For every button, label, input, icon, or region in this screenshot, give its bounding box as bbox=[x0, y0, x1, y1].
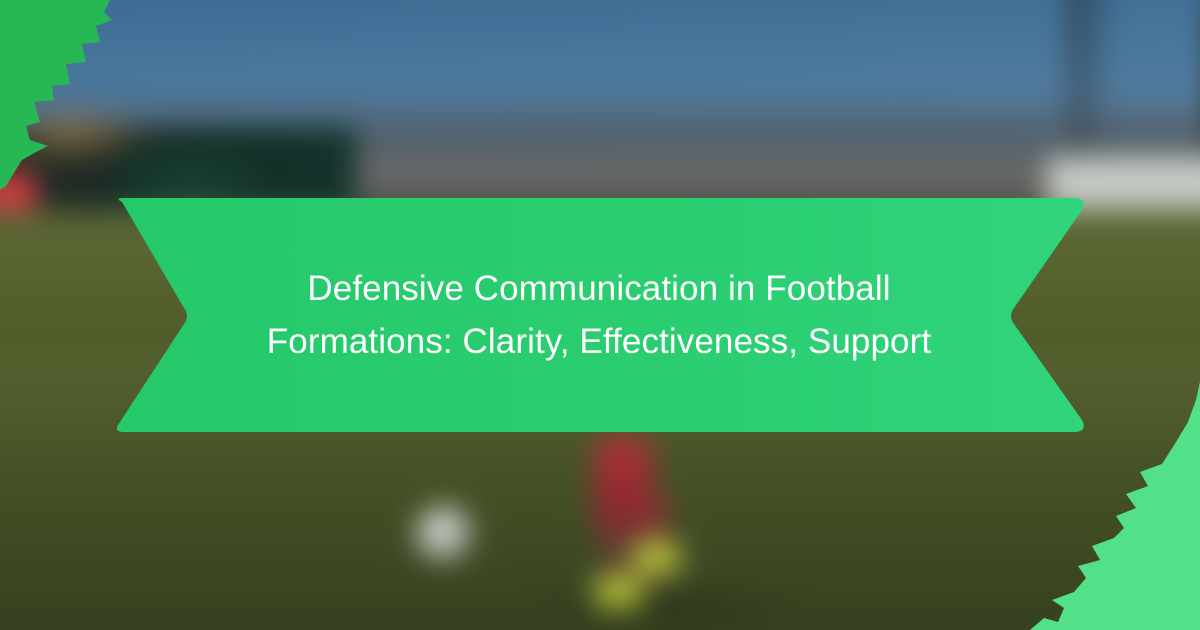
torn-corner-top-left-icon bbox=[0, 0, 190, 200]
title-ribbon-banner: Defensive Communication in Football Form… bbox=[108, 196, 1090, 434]
banner-title-line-2: Formations: Clarity, Effectiveness, Supp… bbox=[267, 315, 931, 368]
banner-title-line-1: Defensive Communication in Football bbox=[307, 262, 890, 315]
banner-title-block: Defensive Communication in Football Form… bbox=[108, 196, 1090, 434]
share-card-canvas: Defensive Communication in Football Form… bbox=[0, 0, 1200, 630]
